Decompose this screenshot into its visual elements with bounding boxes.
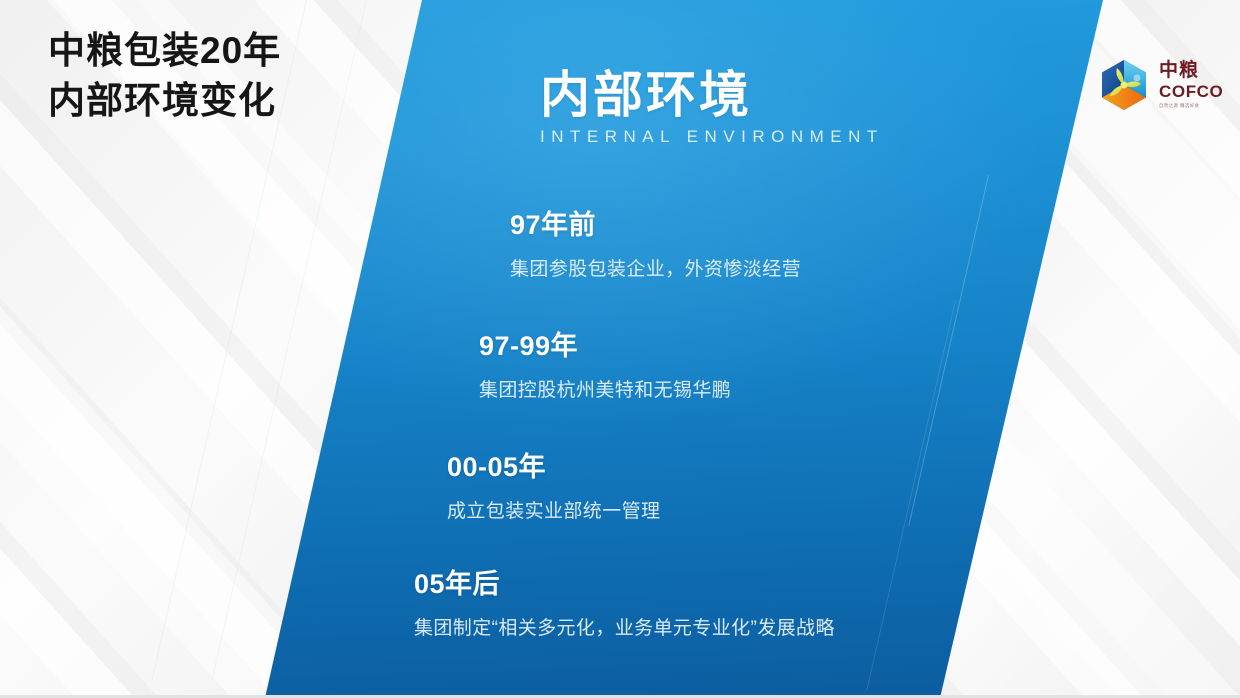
cofco-logo-cn: 中粮 — [1159, 61, 1199, 80]
timeline-entry: 05年后 集团制定“相关多元化，业务单元专业化”发展战略 — [414, 562, 835, 640]
slide-left-title: 中粮包装20年 内部环境变化 — [48, 26, 378, 125]
cofco-logo: 中粮 COFCO 自然之源 精选好食 — [1098, 58, 1223, 112]
timeline-entry: 97-99年 集团控股杭州美特和无锡华鹏 — [479, 324, 731, 402]
cofco-logo-text: 中粮 COFCO 自然之源 精选好食 — [1159, 61, 1223, 109]
timeline-entry-year: 97年前 — [510, 203, 801, 242]
slide-internal-environment: 中粮包装20年 内部环境变化 — [0, 0, 1240, 698]
timeline-entry-desc: 集团参股包装企业，外资惨淡经营 — [510, 254, 801, 281]
cofco-logo-tagline: 自然之源 精选好食 — [1159, 104, 1200, 108]
timeline-entry-year: 05年后 — [414, 562, 835, 601]
timeline-entry: 00-05年 成立包装实业部统一管理 — [447, 445, 660, 523]
timeline-entry: 97年前 集团参股包装企业，外资惨淡经营 — [510, 203, 801, 281]
cofco-logo-en: COFCO — [1159, 83, 1223, 100]
cofco-cube-icon — [1098, 58, 1150, 112]
panel-subheading: INTERNAL ENVIRONMENT — [540, 127, 884, 147]
timeline-entry-desc: 集团控股杭州美特和无锡华鹏 — [479, 375, 731, 402]
timeline-entry-desc: 集团制定“相关多元化，业务单元专业化”发展战略 — [414, 613, 835, 640]
timeline-entry-year: 97-99年 — [479, 324, 731, 363]
timeline-entry-desc: 成立包装实业部统一管理 — [447, 496, 660, 523]
panel-heading: 内部环境 — [540, 55, 752, 127]
timeline-entry-year: 00-05年 — [447, 445, 660, 484]
